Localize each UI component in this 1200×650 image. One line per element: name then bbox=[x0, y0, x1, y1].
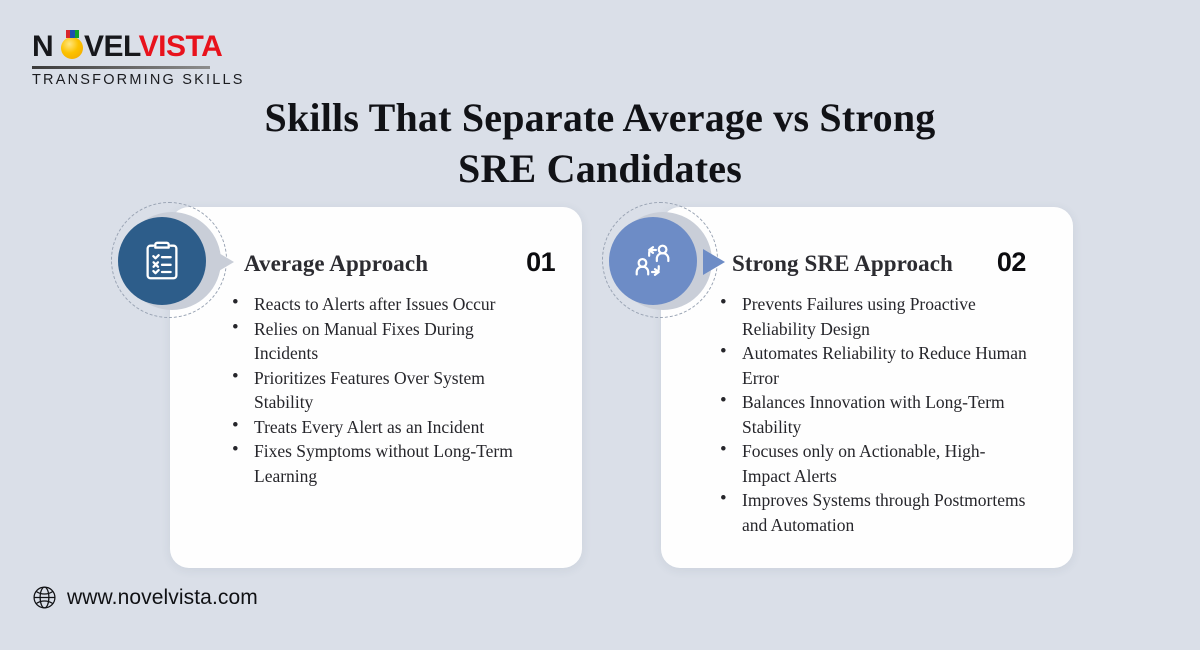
card-header-strong-sre: Strong SRE Approach 02 bbox=[732, 247, 1062, 278]
badge-pointer-arrow bbox=[703, 249, 725, 275]
badge-average-approach bbox=[111, 202, 231, 322]
card-number: 02 bbox=[979, 247, 1026, 278]
infographic-canvas: N VELVISTA TRANSFORMING SKILLS Skills Th… bbox=[0, 0, 1200, 650]
list-item: Fixes Symptoms without Long-Term Learnin… bbox=[230, 439, 530, 488]
people-rotation-icon bbox=[609, 217, 697, 305]
list-item: Prevents Failures using Proactive Reliab… bbox=[718, 292, 1030, 341]
clipboard-checklist-icon bbox=[118, 217, 206, 305]
logo-text-vista: VISTA bbox=[139, 30, 223, 63]
globe-icon bbox=[32, 585, 67, 610]
logo-ball-shape bbox=[61, 37, 83, 59]
card-heading: Strong SRE Approach bbox=[732, 251, 953, 277]
logo-divider bbox=[32, 66, 210, 69]
list-item: Focuses only on Actionable, High-Impact … bbox=[718, 439, 1030, 488]
logo-ball-icon bbox=[61, 35, 84, 58]
list-item: Balances Innovation with Long-Term Stabi… bbox=[718, 390, 1030, 439]
list-item: Prioritizes Features Over System Stabili… bbox=[230, 366, 530, 415]
card-header-average: Average Approach 01 bbox=[244, 247, 574, 278]
list-item: Relies on Manual Fixes During Incidents bbox=[230, 317, 530, 366]
footer: www.novelvista.com bbox=[32, 585, 258, 610]
card-heading: Average Approach bbox=[244, 251, 428, 277]
logo-wordmark: N VELVISTA bbox=[32, 30, 212, 64]
list-item: Automates Reliability to Reduce Human Er… bbox=[718, 341, 1030, 390]
card-number: 01 bbox=[508, 247, 555, 278]
list-item: Reacts to Alerts after Issues Occur bbox=[230, 292, 530, 317]
logo-text-n: N bbox=[32, 30, 53, 63]
bullet-list-average: Reacts to Alerts after Issues Occur Reli… bbox=[230, 292, 530, 488]
list-item: Improves Systems through Postmortems and… bbox=[718, 488, 1030, 537]
website-url[interactable]: www.novelvista.com bbox=[67, 586, 258, 610]
page-title: Skills That Separate Average vs Strong S… bbox=[240, 92, 960, 194]
logo-text-vel: VEL bbox=[84, 30, 139, 63]
bullet-list-strong-sre: Prevents Failures using Proactive Reliab… bbox=[718, 292, 1030, 537]
badge-strong-sre bbox=[602, 202, 722, 322]
logo-flag-icon bbox=[66, 30, 79, 38]
list-item: Treats Every Alert as an Incident bbox=[230, 415, 530, 440]
flag-stripe-green bbox=[75, 30, 79, 38]
novelvista-logo: N VELVISTA TRANSFORMING SKILLS bbox=[32, 30, 212, 88]
logo-tagline: TRANSFORMING SKILLS bbox=[32, 72, 212, 88]
badge-pointer-arrow bbox=[212, 249, 234, 275]
